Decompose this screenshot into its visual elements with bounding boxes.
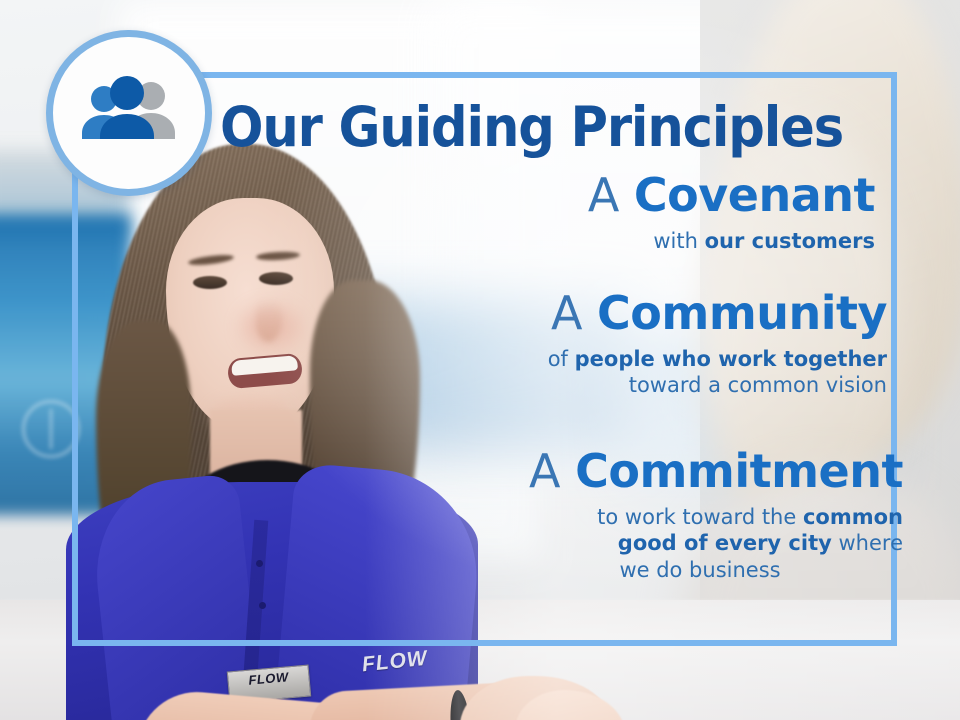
detail-text-bold: people who work together [575, 347, 887, 371]
principle-headline: A Covenant [588, 172, 875, 219]
detail-text-bold: our customers [705, 229, 875, 253]
detail-text-bold: common [803, 505, 903, 529]
detail-line: of people who work together [548, 346, 887, 372]
detail-text: where [832, 531, 903, 555]
detail-text: with [653, 229, 704, 253]
poster-canvas: FLOW FLOW Our Guiding Principles A Coven… [0, 0, 960, 720]
guiding-principles-badge [46, 30, 212, 196]
detail-text: to work toward the [597, 505, 803, 529]
principle-article: A [551, 286, 582, 340]
principle-keyword: Covenant [634, 168, 875, 222]
principle-headline: A Community [548, 290, 887, 337]
principle-block-community: A Community of people who work together … [548, 290, 887, 399]
principle-article: A [529, 444, 560, 498]
detail-line: toward a common vision [548, 372, 887, 398]
principle-detail: to work toward the common good of every … [529, 504, 903, 583]
principle-detail: with our customers [588, 228, 875, 254]
principle-keyword: Community [597, 286, 887, 340]
principle-detail: of people who work together toward a com… [548, 346, 887, 399]
principle-article: A [588, 168, 619, 222]
principle-block-covenant: A Covenant with our customers [588, 172, 875, 254]
detail-text: of [548, 347, 575, 371]
detail-text-bold: good of every city [618, 531, 832, 555]
group-people-icon [77, 75, 181, 151]
principle-block-commitment: A Commitment to work toward the common g… [529, 448, 903, 583]
principle-keyword: Commitment [575, 444, 903, 498]
detail-line: with our customers [588, 228, 875, 254]
name-tag-brand: FLOW [228, 666, 309, 693]
principle-headline: A Commitment [529, 448, 903, 495]
page-title: Our Guiding Principles [220, 100, 843, 155]
detail-line: we do business [529, 557, 903, 583]
detail-line: good of every city where [529, 530, 903, 556]
detail-line: to work toward the common [529, 504, 903, 530]
